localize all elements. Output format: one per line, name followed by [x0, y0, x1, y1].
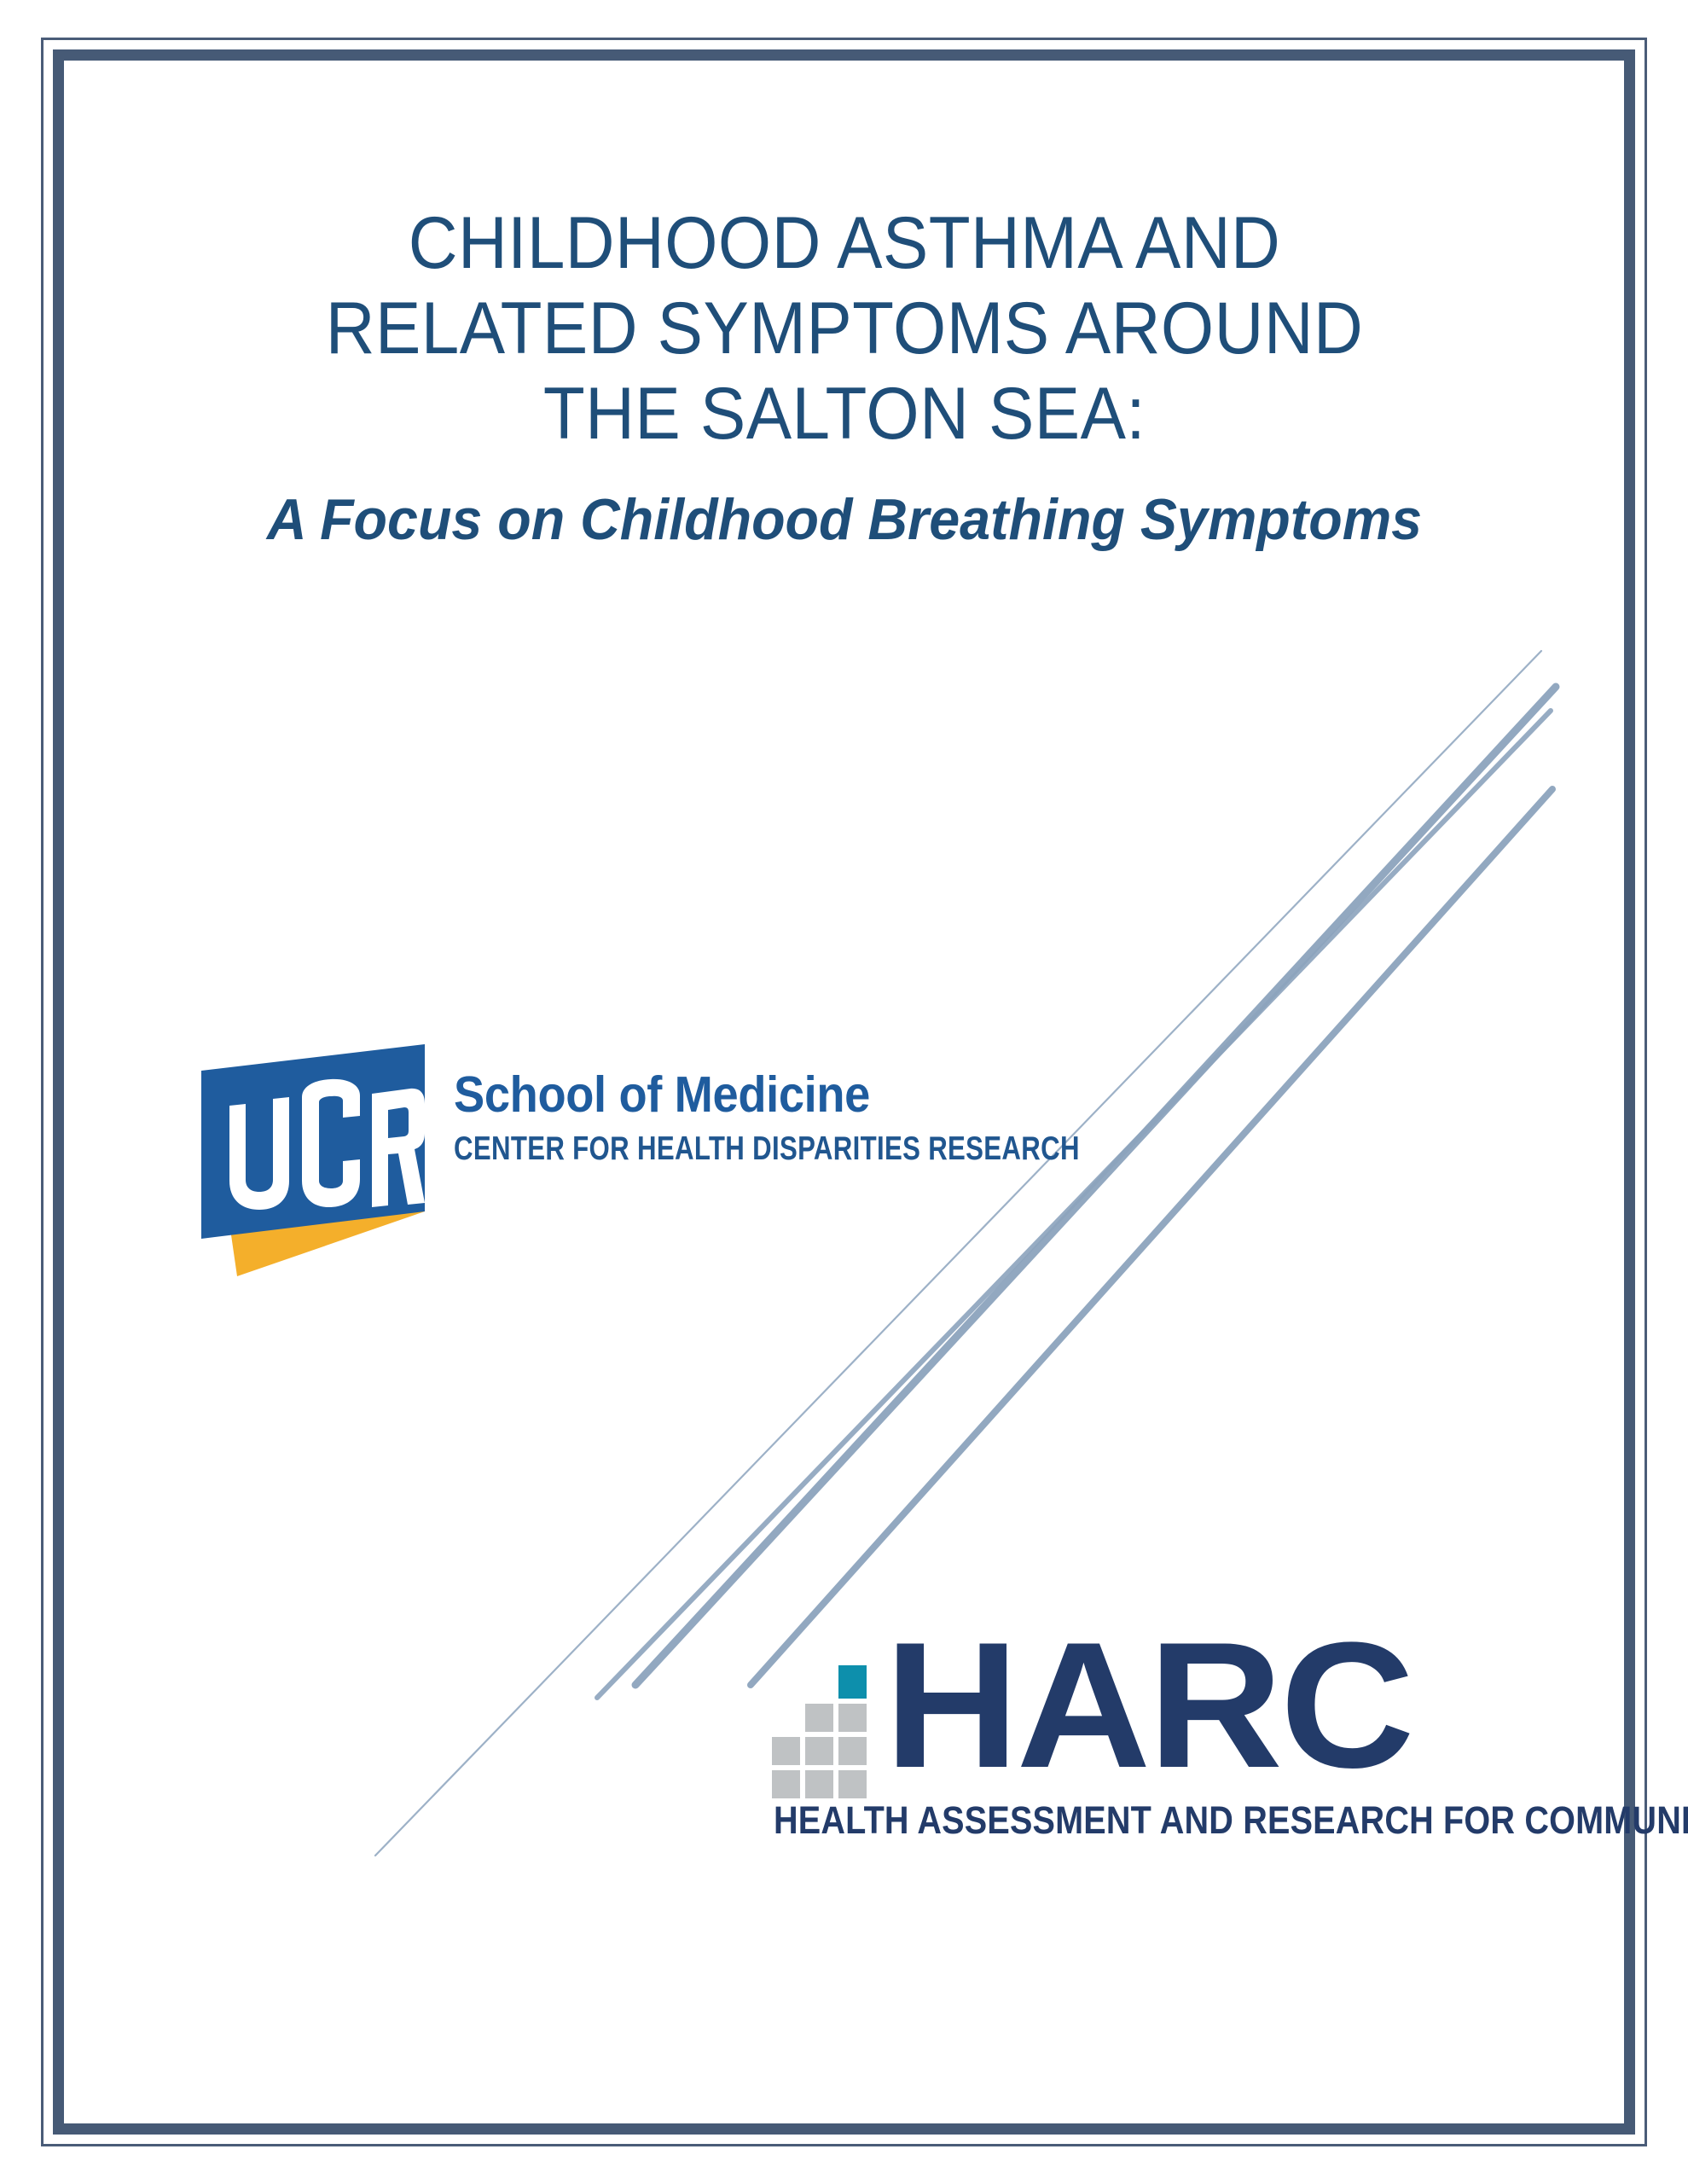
bar-chart-steps-icon: [772, 1629, 874, 1800]
page-title-line-2: RELATED SYMPTOMS AROUND: [154, 287, 1534, 372]
ucr-badge-icon: [201, 1044, 425, 1276]
ucr-school-of-medicine-logo: School of Medicine CENTER FOR HEALTH DIS…: [201, 1044, 1071, 1276]
ucr-secondary-line: CENTER FOR HEALTH DISPARITIES RESEARCH: [454, 1132, 945, 1165]
harc-logo: HARC HEALTH ASSESSMENT AND RESEARCH FOR …: [772, 1618, 1505, 1831]
ucr-logo-text: School of Medicine CENTER FOR HEALTH DIS…: [454, 1070, 1068, 1165]
harc-wordmark: HARC: [885, 1618, 1412, 1793]
title-block: CHILDHOOD ASTHMA AND RELATED SYMPTOMS AR…: [102, 201, 1586, 555]
page-subtitle: A Focus on Childhood Breathing Symptoms: [140, 485, 1550, 555]
page-title-line-1: CHILDHOOD ASTHMA AND: [154, 201, 1534, 287]
harc-tagline: HEALTH ASSESSMENT AND RESEARCH FOR COMMU…: [774, 1798, 1688, 1843]
ucr-primary-line: School of Medicine: [454, 1070, 1018, 1120]
cover-page: CHILDHOOD ASTHMA AND RELATED SYMPTOMS AR…: [0, 0, 1688, 2184]
page-title-line-3: THE SALTON SEA:: [154, 372, 1534, 457]
